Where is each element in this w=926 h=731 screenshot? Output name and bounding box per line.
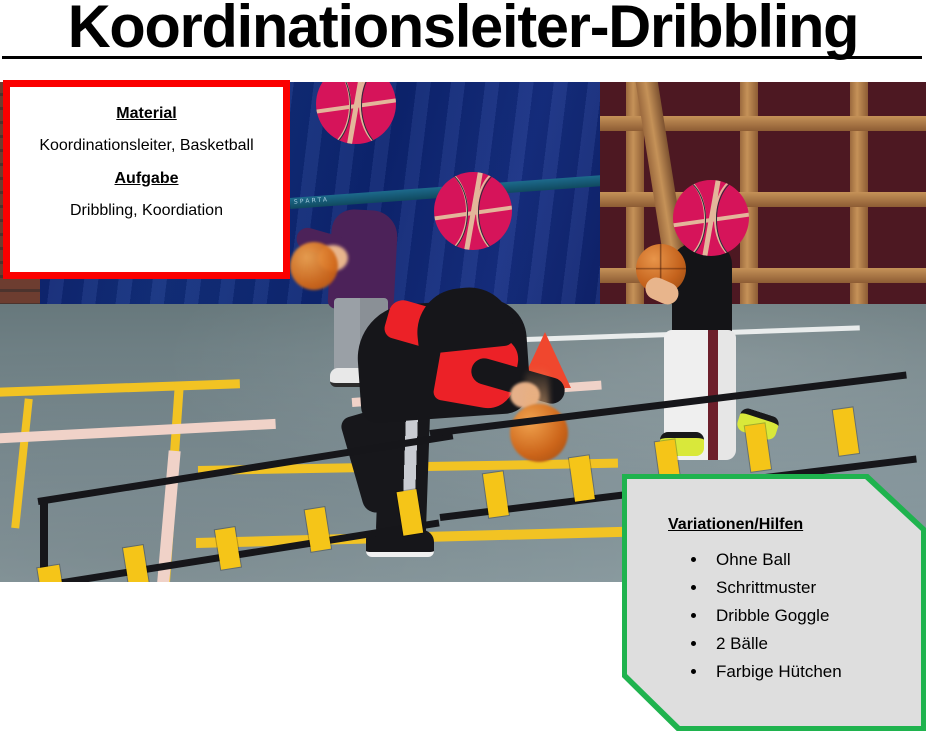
list-item: Dribble Goggle [708,602,842,630]
list-item: Schrittmuster [708,574,842,602]
material-text: Koordinationsleiter, Basketball [24,135,269,156]
variations-box: Variationen/Hilfen Ohne Ball Schrittmust… [622,474,926,731]
list-item: Ohne Ball [708,546,842,574]
title-bar: Koordinationsleiter-Dribbling [0,0,926,62]
task-heading: Aufgabe [10,170,283,188]
material-box: Material Koordinationsleiter, Basketball… [3,80,290,279]
title-underline-rule [2,56,922,59]
task-text: Dribbling, Koordiation [24,200,269,221]
list-item: 2 Bälle [708,630,842,658]
variations-list: Ohne Ball Schrittmuster Dribble Goggle 2… [684,546,842,686]
material-heading: Material [10,105,283,123]
basketball-icon [316,82,396,144]
basketball-icon [434,172,512,250]
page-title: Koordinationsleiter-Dribbling [5,0,922,61]
basketball-icon [673,180,749,256]
list-item: Farbige Hütchen [708,658,842,686]
variations-heading: Variationen/Hilfen [668,516,803,534]
